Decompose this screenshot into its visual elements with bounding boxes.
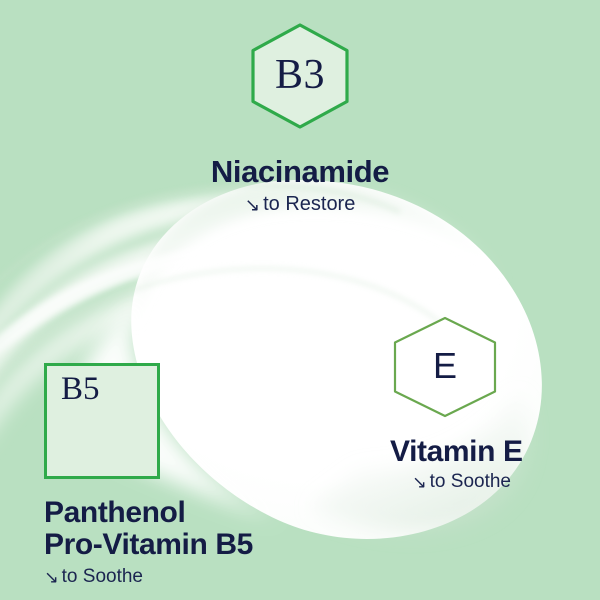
ingredient-title-niacinamide: Niacinamide [0,155,600,188]
badge-label-b5: B5 [61,371,100,408]
ingredient-benefit-text-panthenol: to Soothe [62,566,143,587]
badge-label-e: E [390,345,500,387]
ingredient-group-niacinamide: B3 Niacinamide ↘to Restore [0,22,600,216]
down-right-arrow-icon: ↘ [44,569,59,588]
ingredient-benefit-niacinamide: ↘to Restore [0,193,600,215]
square-badge-b5: B5 [44,363,160,479]
ingredient-title-panthenol-line1: Panthenol [44,497,253,529]
ingredient-benefit-text-niacinamide: to Restore [263,193,355,215]
down-right-arrow-icon: ↘ [245,196,260,216]
hexagon-badge-b3: B3 [249,22,351,130]
ingredient-group-panthenol: B5 Panthenol Pro-Vitamin B5 ↘to Soothe [44,363,253,588]
ingredient-title-panthenol: Panthenol Pro-Vitamin B5 [44,497,253,562]
ingredient-title-vitamin-e: Vitamin E [390,436,523,468]
ingredient-benefit-vitamin-e: ↘to Soothe [412,472,523,493]
hexagon-badge-e: E [390,315,500,419]
badge-label-b3: B3 [249,51,351,99]
ingredient-group-vitamin-e: E Vitamin E ↘to Soothe [390,315,523,493]
ingredient-benefit-panthenol: ↘to Soothe [44,567,253,588]
ingredient-infographic-poster: B3 Niacinamide ↘to Restore B5 Panthenol … [0,0,600,600]
ingredient-benefit-text-vitamin-e: to Soothe [430,471,511,492]
badge-wrap-b3: B3 [249,22,351,130]
ingredient-title-panthenol-line2: Pro-Vitamin B5 [44,529,253,561]
down-right-arrow-icon: ↘ [412,474,427,493]
